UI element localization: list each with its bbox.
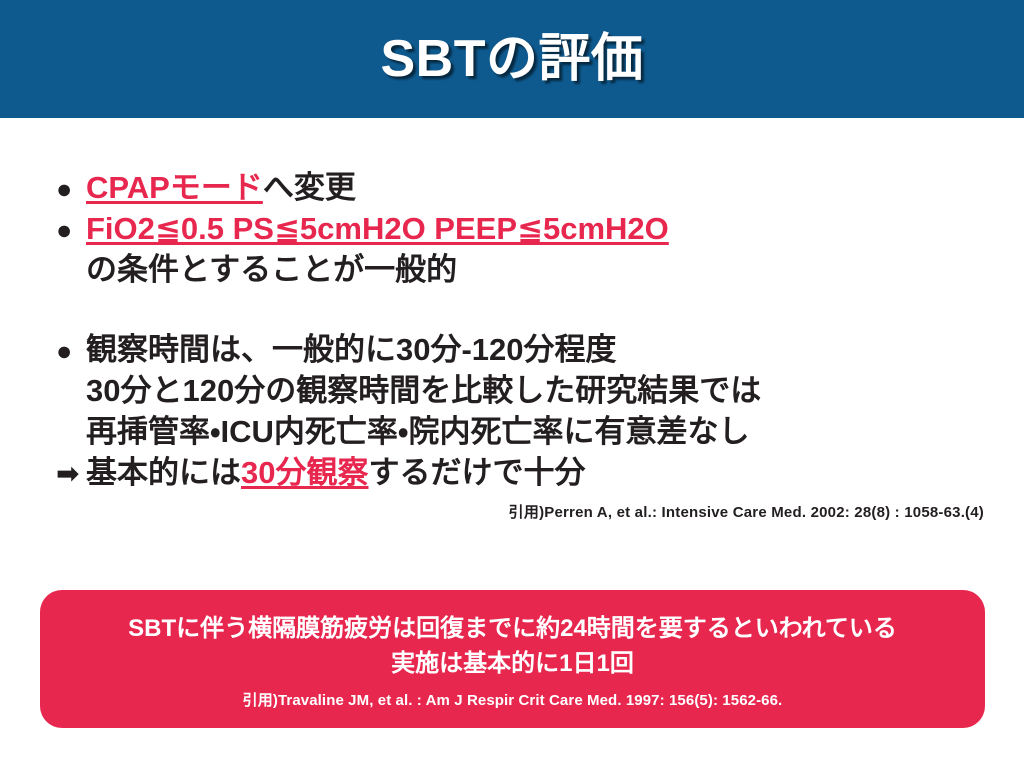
- bullet-item-observation: ● 観察時間は、一般的に30分-120分程度: [56, 330, 996, 371]
- callout-line-2: 実施は基本的に1日1回: [58, 647, 967, 682]
- observation-conclusion-row: ➡ 基本的には 30分観察 するだけで十分: [56, 453, 996, 494]
- citation-perren: 引用)Perren A, et al.: Intensive Care Med.…: [0, 501, 984, 522]
- bullet-dot-icon: ●: [56, 338, 86, 365]
- title-bar: SBTの評価: [0, 0, 1024, 118]
- bullet-settings-continuation: の条件とすることが一般的: [86, 250, 457, 291]
- bullet-settings-continuation-line: の条件とすることが一般的: [56, 250, 996, 291]
- observation-line-3: 再挿管率・ICU内死亡率・院内死亡率に有意差なし: [86, 412, 749, 453]
- observation-line-2-row: 30分と120分の観察時間を比較した研究結果では: [56, 371, 996, 412]
- conclusion-emphasis: 30分観察: [241, 453, 368, 494]
- callout-box: SBTに伴う横隔膜筋疲労は回復までに約24時間を要するといわれている 実施は基本…: [40, 590, 985, 728]
- slide-root: SBTの評価 ● CPAPモード へ変更 ● FiO2≦0.5 PS≦5cmH2…: [0, 0, 1024, 768]
- callout-line-1: SBTに伴う横隔膜筋疲労は回復までに約24時間を要するといわれている: [58, 612, 967, 647]
- observation-line-2: 30分と120分の観察時間を比較した研究結果では: [86, 371, 761, 412]
- bullet-cpap-rest: へ変更: [263, 168, 356, 209]
- bullet-item-settings: ● FiO2≦0.5 PS≦5cmH2O PEEP≦5cmH2O: [56, 209, 996, 250]
- bullet-cpap-emphasis: CPAPモード: [86, 168, 263, 209]
- bullet-group-observation: ● 観察時間は、一般的に30分-120分程度 30分と120分の観察時間を比較し…: [56, 330, 996, 494]
- bullet-settings-emphasis: FiO2≦0.5 PS≦5cmH2O PEEP≦5cmH2O: [86, 209, 669, 250]
- conclusion-suffix: するだけで十分: [368, 453, 585, 494]
- bullet-group-conditions: ● CPAPモード へ変更 ● FiO2≦0.5 PS≦5cmH2O PEEP≦…: [56, 168, 996, 291]
- arrow-right-icon: ➡: [56, 460, 86, 488]
- bullet-item-cpap: ● CPAPモード へ変更: [56, 168, 996, 209]
- conclusion-prefix: 基本的には: [86, 453, 241, 494]
- bullet-dot-icon: ●: [56, 176, 86, 203]
- observation-line-3-row: 再挿管率・ICU内死亡率・院内死亡率に有意差なし: [56, 412, 996, 453]
- bullet-dot-icon: ●: [56, 217, 86, 244]
- observation-line-1: 観察時間は、一般的に30分-120分程度: [86, 330, 617, 371]
- page-title: SBTの評価: [380, 33, 643, 85]
- citation-travaline: 引用)Travaline JM, et al. : Am J Respir Cr…: [58, 690, 967, 711]
